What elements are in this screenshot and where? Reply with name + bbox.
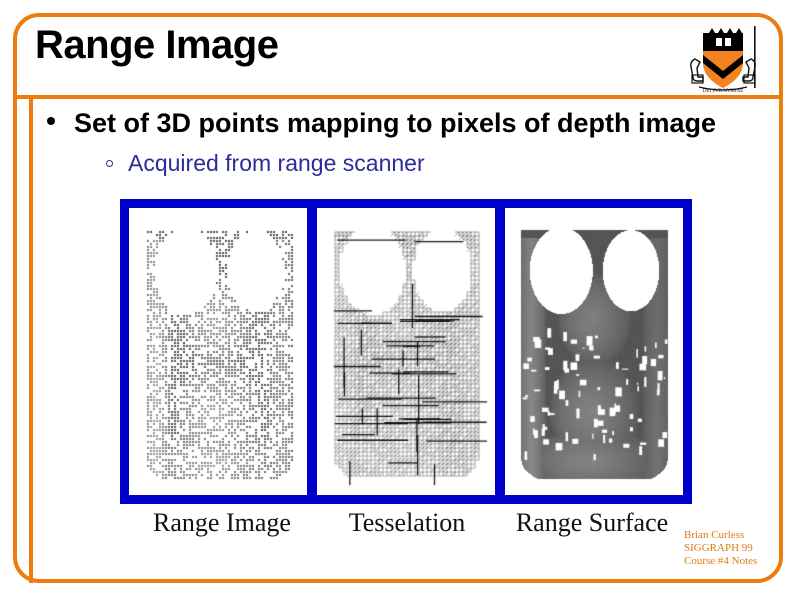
caption-row: Range Image Tesselation Range Surface [120,508,692,544]
caption-range-surface: Range Surface [497,508,687,538]
panel-tesselation [317,208,495,495]
bullet-level1-text: Set of 3D points mapping to pixels of de… [74,108,716,138]
attribution-venue: SIGGRAPH 99 [684,542,780,555]
point-cloud-render [129,208,307,495]
bullet-circle-icon [106,160,113,167]
panel-range-image [129,208,307,495]
title-bar: Range Image DEI SVB NVMINE [13,17,783,95]
attribution-author: Brian Curless [684,529,780,542]
caption-range-image: Range Image [127,508,317,538]
bullet-disc-icon [47,117,55,125]
princeton-shield-icon: DEI SVB NVMINE [685,23,763,95]
attribution: Brian Curless SIGGRAPH 99 Course #4 Note… [684,529,780,568]
panel-range-surface [505,208,683,495]
figure-block [120,199,692,504]
bullet-list: Set of 3D points mapping to pixels of de… [40,106,770,177]
bullet-level1: Set of 3D points mapping to pixels of de… [40,106,770,140]
attribution-course: Course #4 Notes [684,555,780,568]
header-divider [13,95,783,99]
bullet-level2-text: Acquired from range scanner [128,150,425,176]
bullet-level2: Acquired from range scanner [102,149,770,177]
svg-text:DEI SVB NVMINE: DEI SVB NVMINE [703,89,744,94]
caption-tesselation: Tesselation [312,508,502,538]
wireframe-mesh-render [317,208,495,495]
page-title: Range Image [35,23,278,68]
content-left-rule [29,99,33,583]
shaded-surface-render [505,208,683,495]
